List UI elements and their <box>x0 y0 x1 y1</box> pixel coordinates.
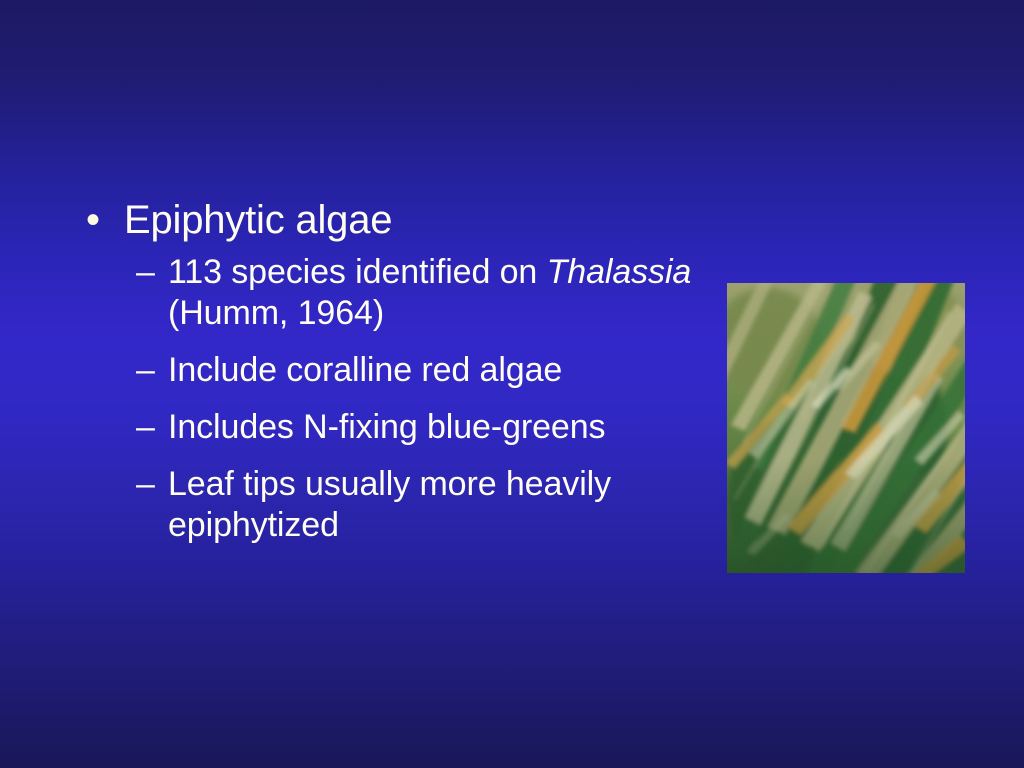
en-dash-icon: – <box>136 464 155 505</box>
en-dash-icon: – <box>136 407 155 448</box>
sub-bullet-text-part: 113 species identified on <box>168 253 547 291</box>
sub-bullet-label: Include coralline red algae <box>168 351 562 389</box>
slide-body-text: • Epiphytic algae – 113 species identifi… <box>78 196 718 546</box>
seagrass-epiphytes-photo <box>727 283 965 573</box>
sub-bullet-label: Includes N-fixing blue-greens <box>168 408 605 446</box>
citation-text: (Humm, 1964) <box>168 294 384 332</box>
slide: • Epiphytic algae – 113 species identifi… <box>0 0 1024 768</box>
en-dash-icon: – <box>136 350 155 391</box>
sub-bullet-label: Leaf tips usually more heavily epiphytiz… <box>168 465 611 544</box>
bullet-level1-epiphytic-algae: • Epiphytic algae <box>78 196 718 244</box>
en-dash-icon: – <box>136 252 155 293</box>
bullet-dot-icon: • <box>86 196 116 244</box>
sub-bullet-n-fixing-blue-greens: – Includes N-fixing blue-greens <box>136 407 718 448</box>
seagrass-photo-artwork <box>727 283 965 573</box>
sub-bullet-species-count: – 113 species identified on Thalassia (H… <box>136 252 718 334</box>
sub-bullet-label: 113 species identified on Thalassia (Hum… <box>168 253 691 332</box>
sub-bullet-list: – 113 species identified on Thalassia (H… <box>78 252 718 546</box>
bullet-level1-label: Epiphytic algae <box>124 198 392 242</box>
sub-bullet-coralline-red-algae: – Include coralline red algae <box>136 350 718 391</box>
species-name-italic: Thalassia <box>547 253 692 291</box>
sub-bullet-leaf-tips-epiphytized: – Leaf tips usually more heavily epiphyt… <box>136 464 718 546</box>
